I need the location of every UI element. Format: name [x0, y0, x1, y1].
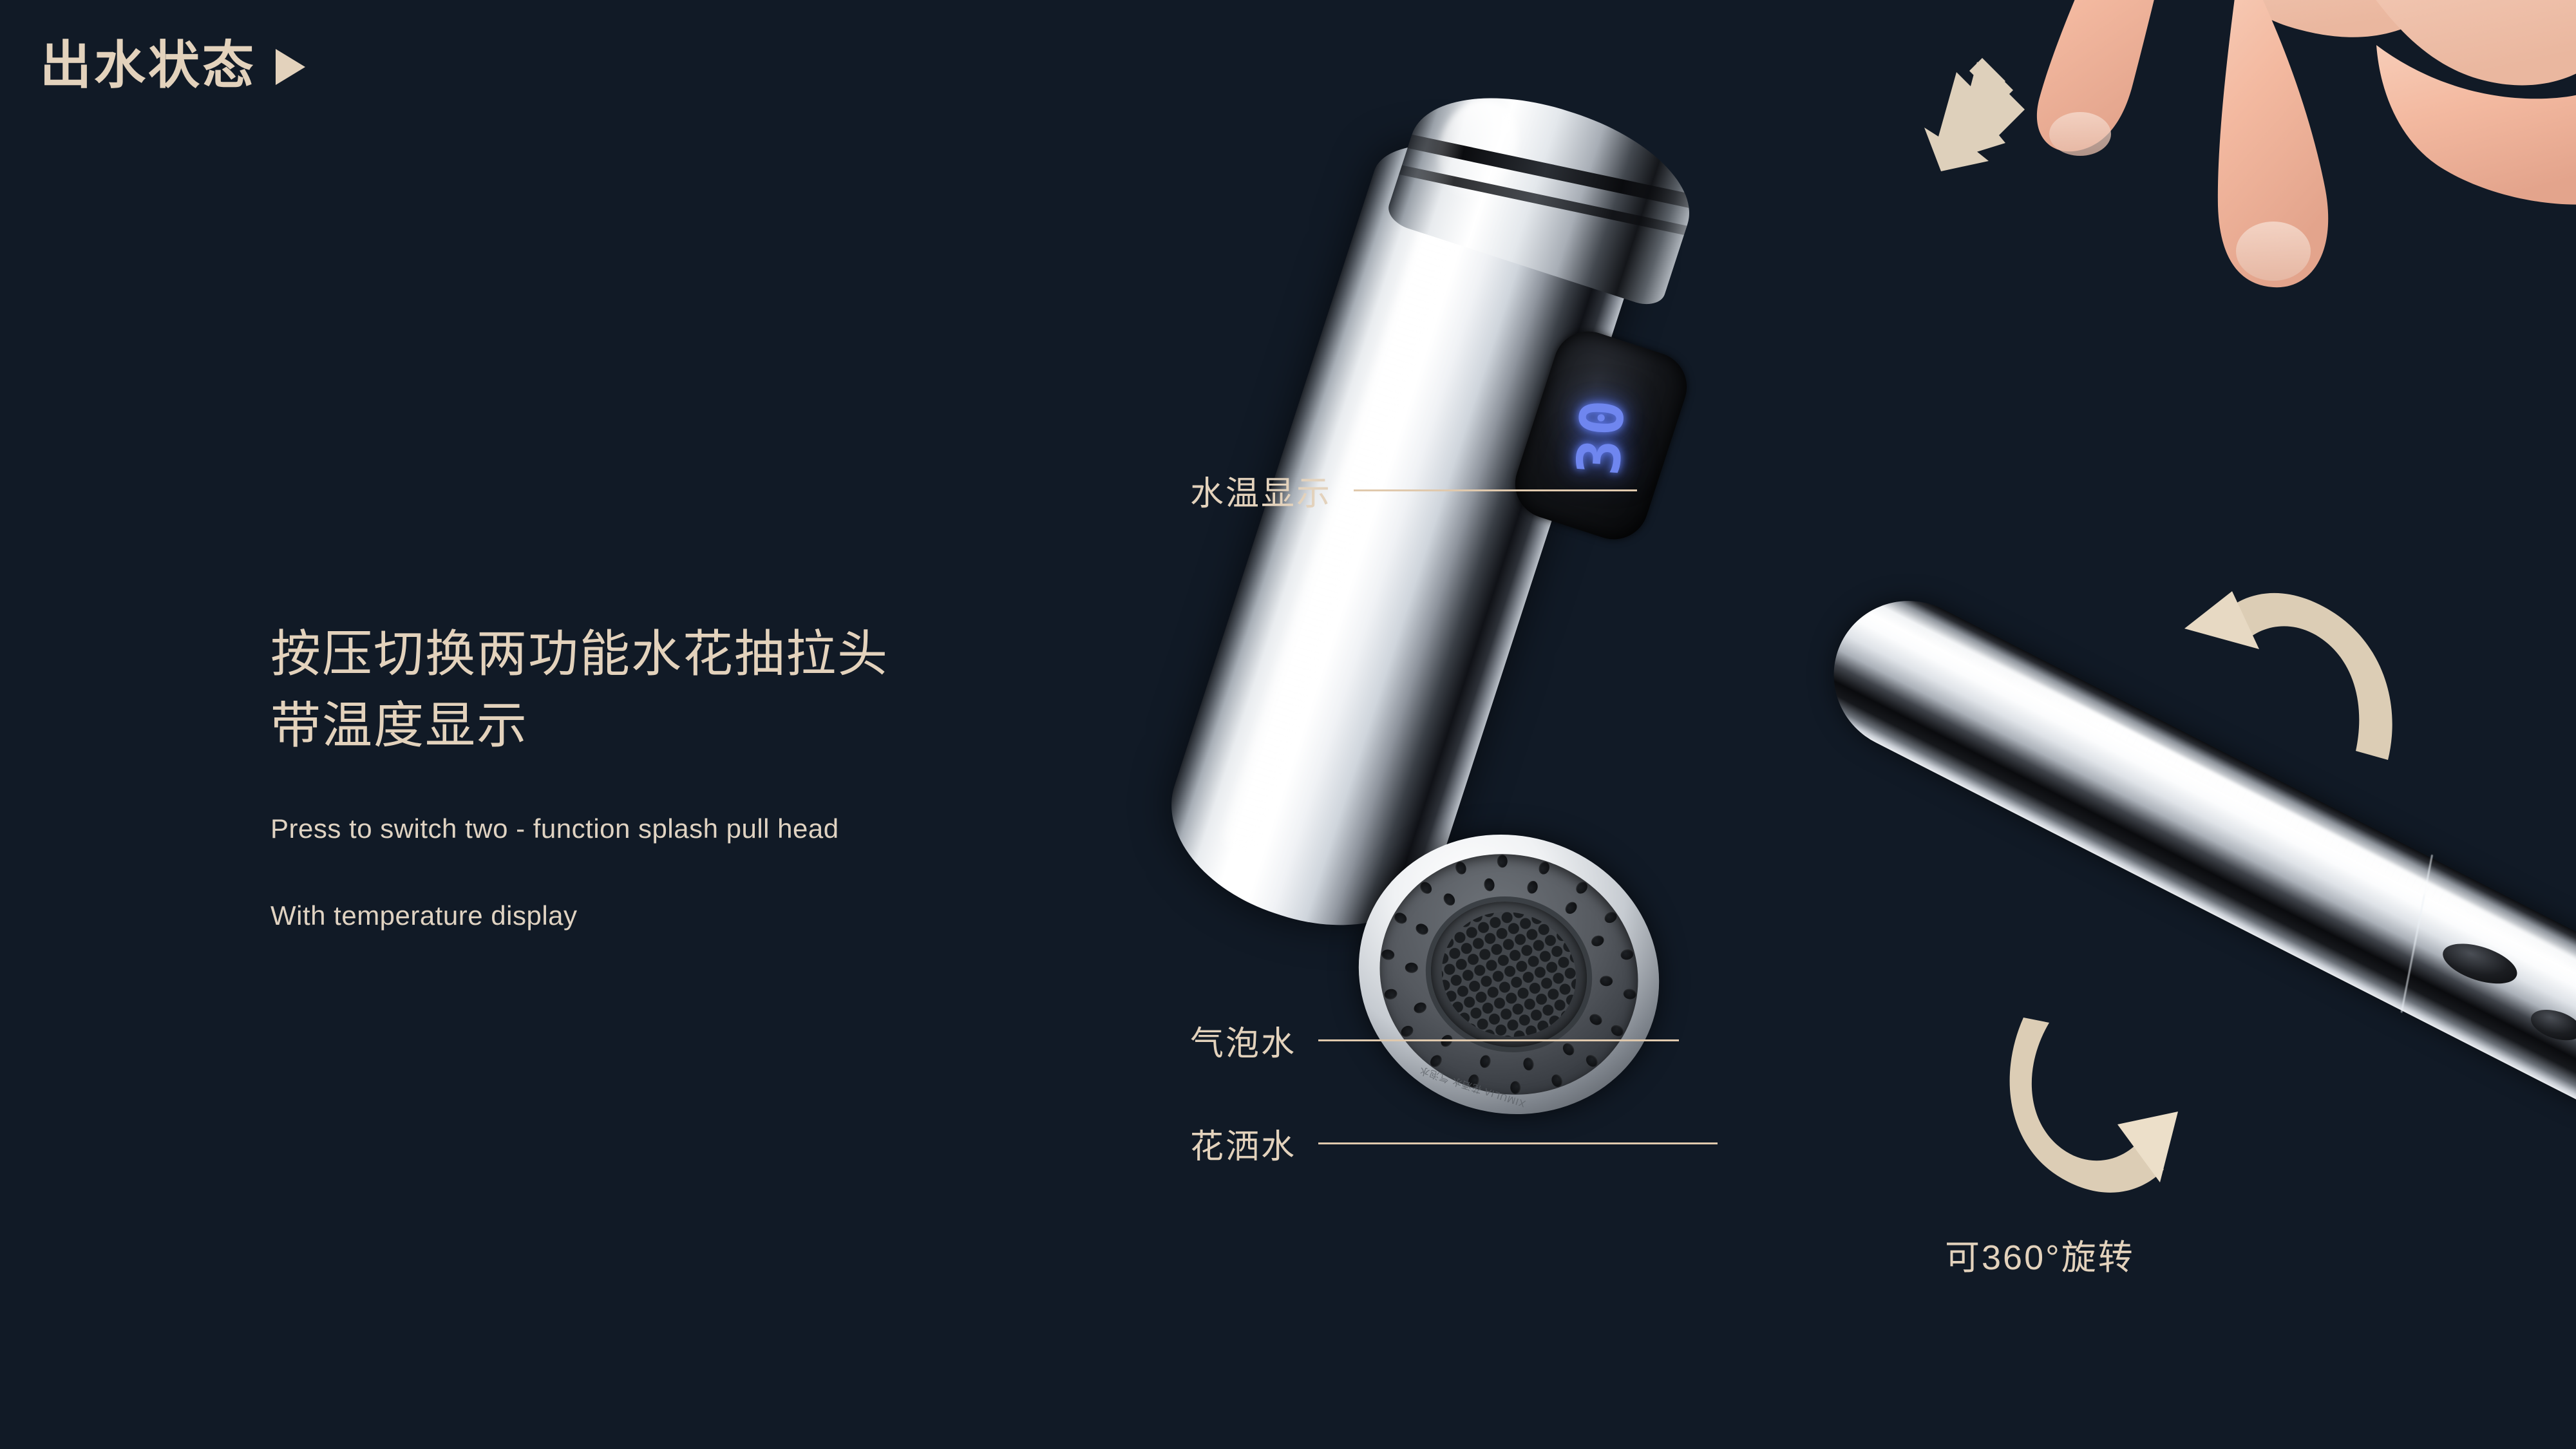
arm-seam-line: [2400, 855, 2433, 1013]
arm-slot-detail: [2438, 936, 2522, 992]
shower-hole: [1526, 880, 1539, 895]
arm-slot-detail: [2527, 1004, 2576, 1046]
shower-hole: [1574, 879, 1590, 896]
callout-label: 水温显示: [1190, 466, 1332, 515]
rotate-clockwise-icon: [1985, 992, 2262, 1204]
shower-hole: [1563, 900, 1579, 916]
leader-line: [1318, 1039, 1679, 1041]
shower-hole: [1483, 877, 1495, 892]
subtitle-en-line1: Press to switch two - function splash pu…: [270, 809, 1236, 848]
header: 出水状态: [40, 40, 305, 91]
shower-hole: [1392, 911, 1408, 926]
shower-hole: [1497, 855, 1508, 867]
shower-hole: [1602, 910, 1618, 925]
shower-hole: [1442, 891, 1458, 908]
subtitle-en-line2: With temperature display: [270, 896, 1236, 935]
shower-hole: [1417, 880, 1434, 896]
leader-line: [1318, 1142, 1718, 1144]
play-triangle-icon: [276, 49, 305, 85]
shower-hole: [1622, 988, 1636, 1000]
callout-label: 气泡水: [1190, 1016, 1296, 1065]
product-feature-slide: 出水状态 按压切换两功能水花抽拉头 带温度显示 Press to switch …: [0, 0, 2576, 1449]
shower-hole: [1537, 860, 1551, 876]
callout-bubble-water: 气泡水: [1190, 1016, 1679, 1065]
callout-label: 花洒水: [1190, 1119, 1296, 1168]
page-title: 出水状态: [40, 40, 256, 91]
shower-hole: [1454, 860, 1468, 876]
callout-temperature-display: 水温显示: [1190, 466, 1637, 515]
press-down-arrow-icon: [1879, 46, 2040, 175]
headline-cn-line2: 带温度显示: [270, 690, 1236, 761]
rotation-label: 可360°旋转: [1945, 1229, 2135, 1280]
description-block: 按压切换两功能水花抽拉头 带温度显示 Press to switch two -…: [270, 618, 1236, 935]
shower-hole: [1549, 1073, 1564, 1088]
led-temperature-value: 30: [1564, 393, 1638, 477]
shower-hole: [1590, 934, 1606, 949]
shower-hole: [1620, 948, 1635, 961]
shower-hole: [1405, 962, 1418, 973]
shower-hole: [1510, 1081, 1521, 1094]
shower-hole: [1600, 976, 1613, 987]
shower-hole: [1383, 988, 1398, 1001]
headline-cn-line1: 按压切换两功能水花抽拉头: [270, 618, 1236, 690]
callout-shower-water: 花洒水: [1190, 1119, 1718, 1168]
shower-hole: [1412, 1001, 1428, 1016]
rotate-counterclockwise-icon: [2163, 567, 2420, 779]
shower-hole: [1381, 949, 1395, 961]
shower-hole: [1414, 922, 1430, 937]
leader-line: [1354, 489, 1637, 491]
